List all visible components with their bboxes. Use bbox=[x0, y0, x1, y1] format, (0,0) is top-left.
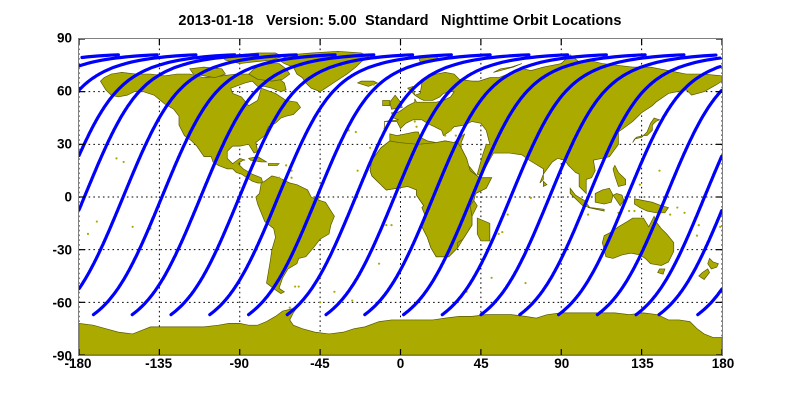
y-tick-label-30: 30 bbox=[12, 137, 72, 152]
island-speck-57 bbox=[319, 301, 321, 303]
island-speck-14 bbox=[696, 235, 698, 237]
landmass-philippines bbox=[613, 165, 626, 186]
island-speck-16 bbox=[676, 206, 678, 208]
island-speck-23 bbox=[355, 131, 357, 133]
x-tick-label-neg45: -45 bbox=[285, 356, 355, 371]
landmass-nz-south bbox=[699, 269, 710, 280]
island-speck-0 bbox=[115, 157, 117, 159]
y-tick-label-0: 0 bbox=[12, 190, 72, 205]
page-title: 2013-01-18 Version: 5.00 Standard Nightt… bbox=[0, 13, 800, 29]
orbit-map-figure: 2013-01-18 Version: 5.00 Standard Nightt… bbox=[0, 0, 800, 400]
island-speck-55 bbox=[333, 291, 335, 293]
landmass-ireland bbox=[383, 100, 390, 105]
island-speck-53 bbox=[491, 277, 493, 279]
island-speck-32 bbox=[415, 126, 417, 128]
island-speck-4 bbox=[285, 164, 287, 166]
island-speck-34 bbox=[444, 134, 446, 136]
island-speck-37 bbox=[278, 177, 280, 179]
island-speck-35 bbox=[446, 127, 448, 129]
x-tick-label-135: 135 bbox=[607, 356, 677, 371]
island-speck-29 bbox=[455, 134, 457, 136]
island-speck-51 bbox=[378, 263, 380, 265]
x-tick-label-neg180: -180 bbox=[43, 356, 113, 371]
y-tick-label-60: 60 bbox=[12, 84, 72, 99]
x-tick-label-0: 0 bbox=[366, 356, 436, 371]
island-speck-43 bbox=[587, 213, 589, 215]
island-speck-46 bbox=[633, 210, 635, 212]
island-speck-1 bbox=[123, 161, 125, 163]
island-speck-25 bbox=[357, 170, 359, 172]
landmass-antarctica bbox=[79, 308, 722, 355]
island-speck-48 bbox=[290, 177, 292, 179]
island-speck-5 bbox=[298, 285, 300, 287]
x-tick-label-neg135: -135 bbox=[124, 356, 194, 371]
x-tick-label-neg90: -90 bbox=[204, 356, 274, 371]
island-speck-38 bbox=[260, 196, 262, 198]
island-speck-18 bbox=[132, 226, 134, 228]
island-speck-15 bbox=[683, 212, 685, 214]
island-speck-27 bbox=[373, 84, 375, 86]
island-speck-39 bbox=[698, 224, 700, 226]
plot-frame bbox=[78, 38, 723, 356]
landmass-madagascar bbox=[477, 218, 490, 241]
island-speck-33 bbox=[414, 120, 416, 122]
x-tick-label-90: 90 bbox=[527, 356, 597, 371]
island-speck-58 bbox=[289, 307, 291, 309]
island-speck-20 bbox=[385, 224, 387, 226]
island-speck-6 bbox=[294, 285, 296, 287]
landmass-nz-north bbox=[708, 258, 719, 269]
island-speck-12 bbox=[87, 233, 89, 235]
landmass-sulawesi bbox=[613, 194, 624, 206]
island-speck-7 bbox=[498, 233, 500, 235]
world-map-svg bbox=[79, 39, 722, 355]
landmass-java bbox=[588, 208, 604, 211]
island-speck-36 bbox=[449, 129, 451, 131]
y-tick-label-neg60: -60 bbox=[12, 296, 72, 311]
plot-clip-region bbox=[79, 39, 722, 355]
island-speck-17 bbox=[669, 213, 671, 215]
island-speck-50 bbox=[507, 213, 509, 215]
landmass-hispaniola bbox=[268, 164, 279, 166]
island-speck-40 bbox=[658, 170, 660, 172]
landmass-sri-lanka bbox=[543, 181, 547, 186]
x-tick-label-45: 45 bbox=[446, 356, 516, 371]
island-speck-42 bbox=[96, 220, 98, 222]
island-speck-13 bbox=[719, 226, 721, 228]
y-tick-label-neg30: -30 bbox=[12, 243, 72, 258]
y-tick-label-90: 90 bbox=[12, 31, 72, 46]
x-tick-label-180: 180 bbox=[688, 356, 758, 371]
landmass-south-america bbox=[256, 176, 335, 294]
landmass-tasmania bbox=[658, 269, 665, 274]
island-speck-52 bbox=[524, 282, 526, 284]
island-speck-9 bbox=[530, 197, 532, 199]
island-speck-8 bbox=[501, 231, 503, 233]
island-speck-56 bbox=[351, 299, 353, 301]
island-speck-41 bbox=[639, 184, 641, 186]
island-speck-49 bbox=[280, 178, 282, 180]
landmass-borneo bbox=[595, 188, 613, 204]
island-speck-45 bbox=[628, 210, 630, 212]
island-speck-21 bbox=[390, 224, 392, 226]
island-speck-24 bbox=[369, 147, 371, 149]
